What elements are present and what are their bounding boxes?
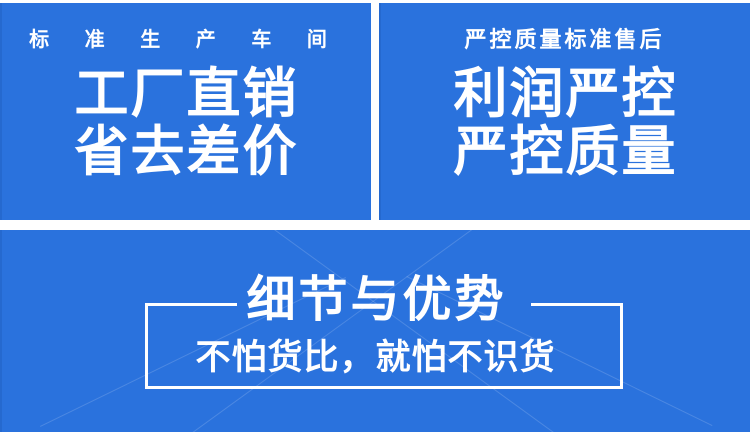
panel-details-and-advantages: 细节与优势 不怕货比，就怕不识货: [0, 230, 750, 432]
left-panel-headline-line1: 工厂直销: [0, 65, 371, 123]
right-panel-eyebrow-text: 严控质量标准售后: [464, 27, 664, 52]
right-panel-headline-line1: 利润严控: [379, 65, 750, 123]
panel-quality-control: 严控质量标准售后 利润严控 严控质量: [379, 3, 750, 220]
left-panel-headline-line2: 省去差价: [0, 123, 371, 181]
right-panel-eyebrow-wrap: 严控质量标准售后: [379, 29, 750, 52]
right-panel-headline-wrap: 利润严控 严控质量: [379, 65, 750, 182]
bottom-panel-subtitle: 不怕货比，就怕不识货: [0, 340, 750, 375]
promo-banner: 标 准 生 产 车 间 工厂直销 省去差价 严控质量标准售后 利润严控 严控质量…: [0, 0, 750, 440]
right-panel-headline-line2: 严控质量: [379, 123, 750, 181]
bottom-panel-title: 细节与优势: [0, 276, 750, 325]
left-panel-headline-wrap: 工厂直销 省去差价: [0, 65, 371, 182]
panel-factory-direct: 标 准 生 产 车 间 工厂直销 省去差价: [0, 3, 371, 220]
left-panel-eyebrow-wrap: 标 准 生 产 车 间: [0, 30, 371, 51]
left-panel-eyebrow-text: 标 准 生 产 车 间: [29, 29, 342, 51]
